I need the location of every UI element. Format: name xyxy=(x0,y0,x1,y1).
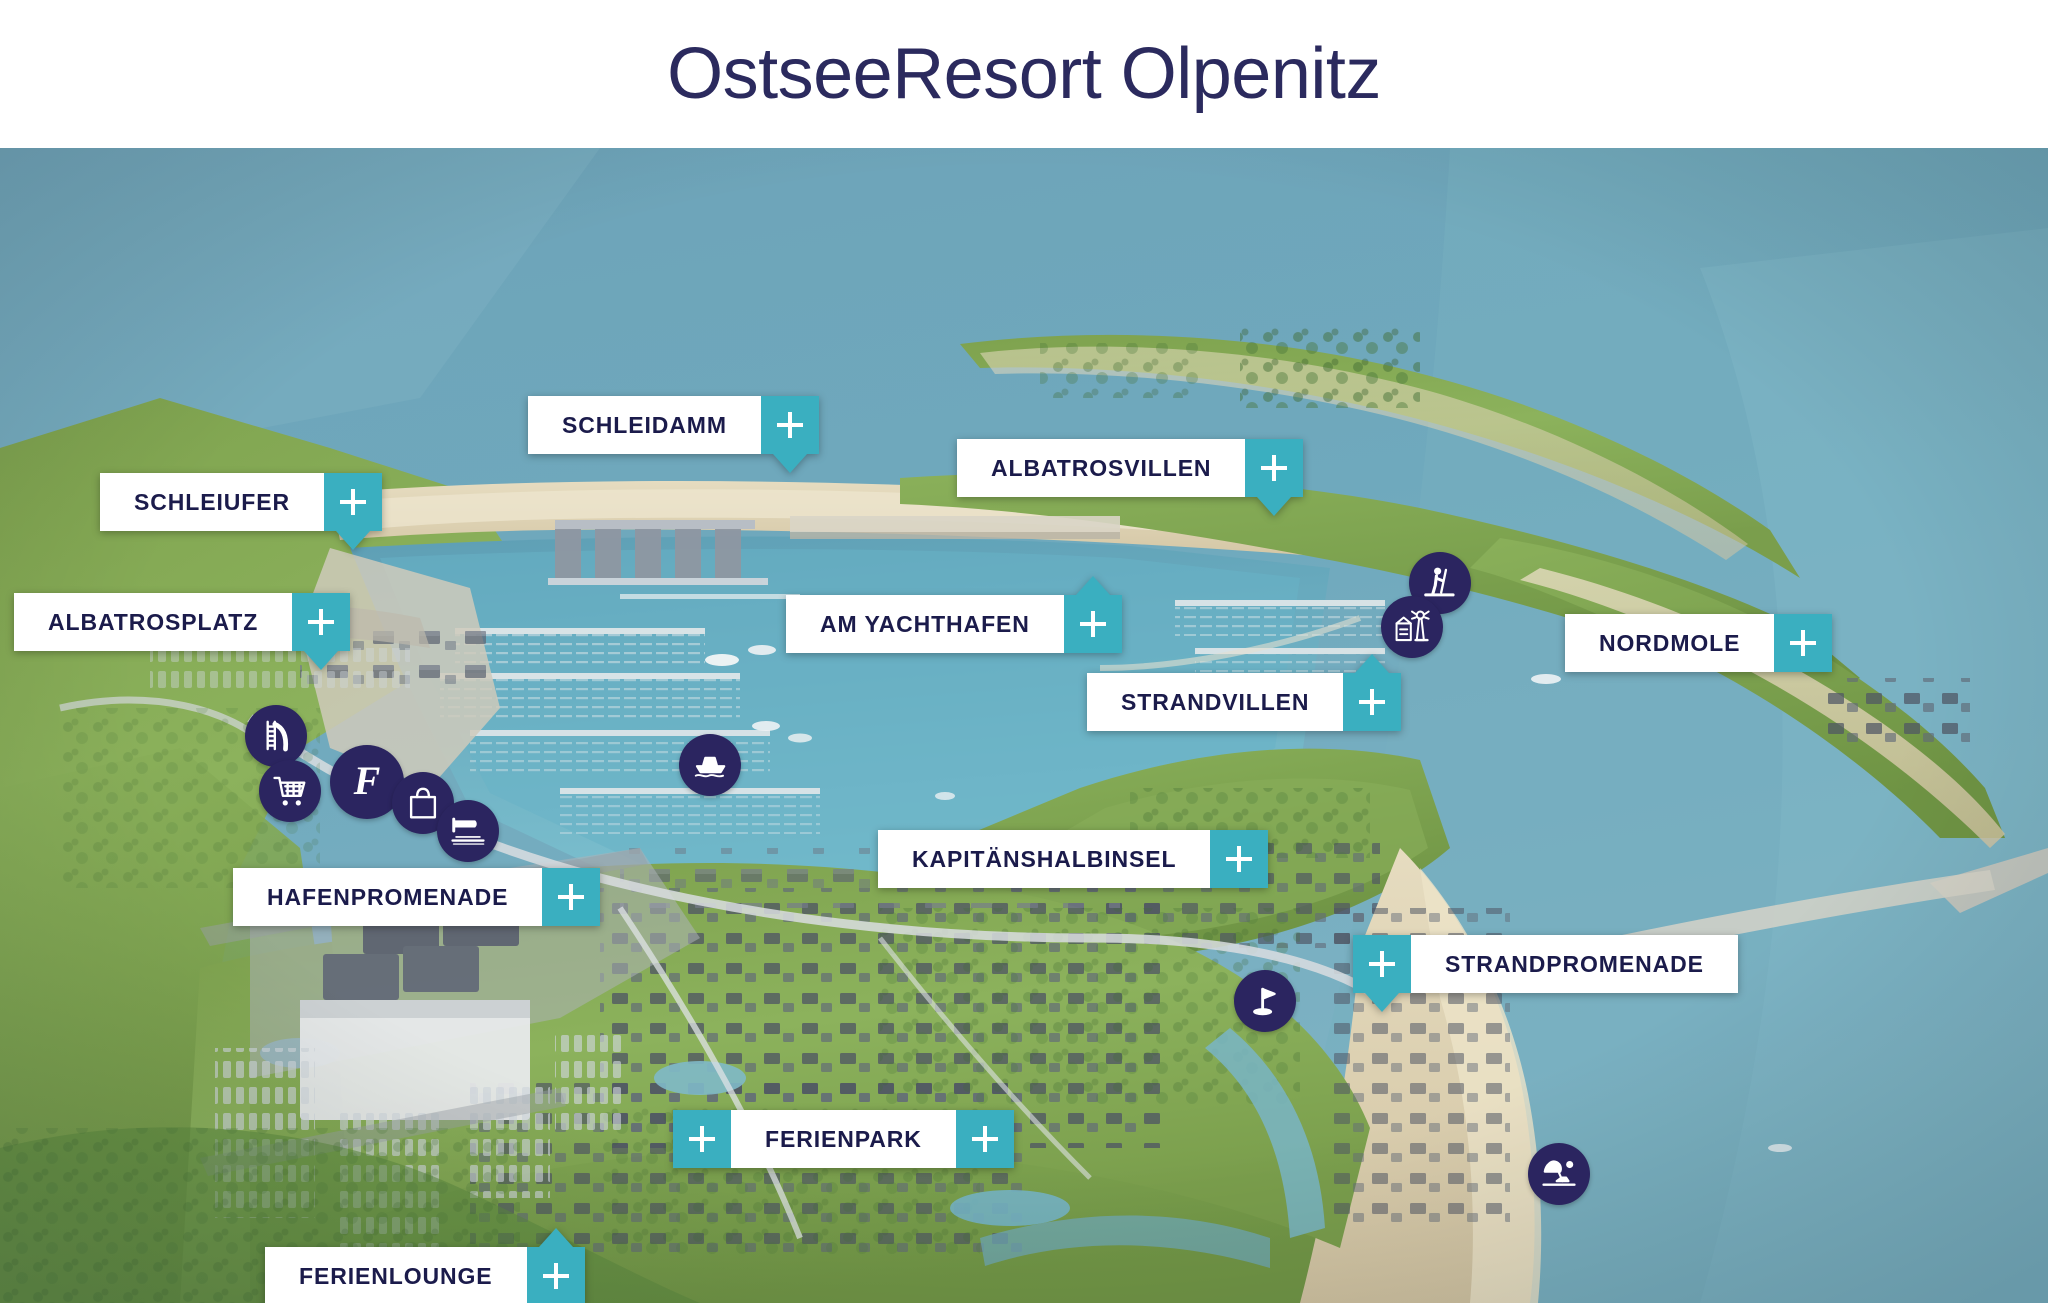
expand-plus-icon-nordmole[interactable] xyxy=(1774,614,1832,672)
expand-plus-icon-ferienpark-left[interactable] xyxy=(673,1110,731,1168)
map-label-nordmole-text: NORDMOLE xyxy=(1565,614,1774,672)
expand-plus-icon-strandvillen[interactable] xyxy=(1343,673,1401,731)
map-label-kapitaenshalbinsel-text: KAPITÄNSHALBINSEL xyxy=(878,830,1210,888)
map-label-nordmole[interactable]: NORDMOLE xyxy=(1565,614,1832,672)
map-label-ferienlounge-text: FERIENLOUNGE xyxy=(265,1247,527,1303)
map-label-am-yachthafen[interactable]: AM YACHTHAFEN xyxy=(786,595,1122,653)
map-label-schleidamm[interactable]: SCHLEIDAMM xyxy=(528,396,819,454)
expand-plus-icon-albatrosvillen[interactable] xyxy=(1245,439,1303,497)
expand-plus-icon-ferienpark-right[interactable] xyxy=(956,1110,1014,1168)
map-label-schleiufer[interactable]: SCHLEIUFER xyxy=(100,473,382,531)
map-label-ferienlounge[interactable]: FERIENLOUNGE xyxy=(265,1247,585,1303)
expand-plus-icon-hafenpromenade[interactable] xyxy=(542,868,600,926)
map-label-strandpromenade-text: STRANDPROMENADE xyxy=(1411,935,1738,993)
map-label-ferienpark-text: FERIENPARK xyxy=(731,1110,956,1168)
resort-map-page: OstseeResort Olpenitz xyxy=(0,0,2048,1303)
expand-plus-icon-kapitaenshalbinsel[interactable] xyxy=(1210,830,1268,888)
map-label-schleidamm-text: SCHLEIDAMM xyxy=(528,396,761,454)
map-label-albatrosvillen-text: ALBATROSVILLEN xyxy=(957,439,1245,497)
expand-plus-icon-albatrosplatz[interactable] xyxy=(292,593,350,651)
resort-map[interactable]: F xyxy=(0,148,2048,1303)
page-title: OstseeResort Olpenitz xyxy=(667,38,1381,110)
harbor-house-icon[interactable] xyxy=(1381,596,1443,658)
beach-umbrella-icon[interactable] xyxy=(1528,1143,1590,1205)
expand-plus-icon-schleidamm[interactable] xyxy=(761,396,819,454)
expand-plus-icon-strandpromenade[interactable] xyxy=(1353,935,1411,993)
map-label-strandvillen-text: STRANDVILLEN xyxy=(1087,673,1343,731)
expand-plus-icon-ferienlounge[interactable] xyxy=(527,1247,585,1303)
map-label-hafenpromenade-text: HAFENPROMENADE xyxy=(233,868,542,926)
map-label-albatrosplatz[interactable]: ALBATROSPLATZ xyxy=(14,593,350,651)
map-label-strandpromenade[interactable]: STRANDPROMENADE xyxy=(1353,935,1738,993)
restaurant-f-glyph: F xyxy=(354,761,381,801)
title-bar: OstseeResort Olpenitz xyxy=(0,0,2048,148)
waterslide-icon[interactable] xyxy=(245,705,307,767)
map-label-ferienpark[interactable]: FERIENPARK xyxy=(673,1110,1014,1168)
aerial-map-illustration xyxy=(0,148,2048,1303)
expand-plus-icon-am-yachthafen[interactable] xyxy=(1064,595,1122,653)
shopping-cart-icon[interactable] xyxy=(259,760,321,822)
motorboat-icon[interactable] xyxy=(679,734,741,796)
map-label-hafenpromenade[interactable]: HAFENPROMENADE xyxy=(233,868,600,926)
map-label-schleiufer-text: SCHLEIUFER xyxy=(100,473,324,531)
boat-slipway-icon[interactable] xyxy=(437,800,499,862)
map-label-albatrosvillen[interactable]: ALBATROSVILLEN xyxy=(957,439,1303,497)
map-label-kapitaenshalbinsel[interactable]: KAPITÄNSHALBINSEL xyxy=(878,830,1268,888)
map-label-strandvillen[interactable]: STRANDVILLEN xyxy=(1087,673,1401,731)
map-label-albatrosplatz-text: ALBATROSPLATZ xyxy=(14,593,292,651)
map-label-am-yachthafen-text: AM YACHTHAFEN xyxy=(786,595,1064,653)
golf-flag-icon[interactable] xyxy=(1234,970,1296,1032)
expand-plus-icon-schleiufer[interactable] xyxy=(324,473,382,531)
